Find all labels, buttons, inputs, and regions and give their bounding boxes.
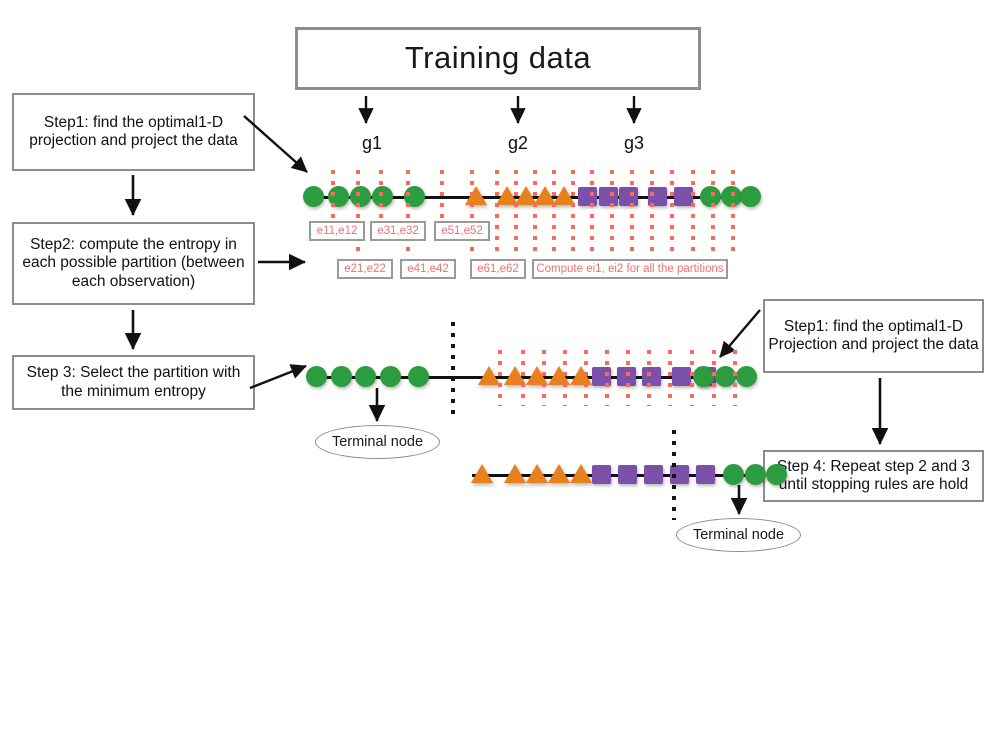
- marker-square: [644, 465, 663, 484]
- partition-guide: [590, 170, 594, 256]
- training-data-label: Training data: [405, 40, 591, 77]
- partition-guide: [514, 170, 518, 256]
- partition-guide: [552, 170, 556, 256]
- partition-guide: [521, 350, 525, 406]
- entropy-label-box: e31,e32: [370, 221, 426, 241]
- marker-square: [642, 367, 661, 386]
- axis-label-g1: g1: [362, 133, 382, 154]
- step4-box: Step 4: Repeat step 2 and 3 until stoppi…: [763, 450, 984, 502]
- step1b-box: Step1: find the optimal1-D Projection an…: [763, 299, 984, 373]
- marker-circle: [350, 186, 371, 207]
- partition-guide: [711, 170, 715, 256]
- marker-circle: [766, 464, 787, 485]
- terminal-node-label: Terminal node: [332, 434, 423, 450]
- partition-guide: [563, 350, 567, 406]
- entropy-label-box: e61,e62: [470, 259, 526, 279]
- partition-guide: [670, 170, 674, 256]
- partition-guide: [379, 170, 383, 218]
- entropy-label-text: e21,e22: [344, 263, 386, 275]
- marker-circle: [331, 366, 352, 387]
- marker-circle: [693, 366, 714, 387]
- step2-box: Step2: compute the entropy in each possi…: [12, 222, 255, 305]
- marker-circle: [355, 366, 376, 387]
- entropy-label-text: e11,e12: [317, 225, 358, 237]
- partition-guide: [571, 170, 575, 256]
- marker-triangle: [465, 186, 487, 205]
- split-line: [451, 322, 455, 414]
- entropy-summary-text: Compute ei1, ei2 for all the partitions: [536, 263, 723, 275]
- marker-square: [592, 465, 611, 484]
- marker-triangle: [570, 464, 592, 483]
- step3-label: Step 3: Select the partition with the mi…: [14, 364, 253, 401]
- marker-circle: [740, 186, 761, 207]
- partition-guide: [470, 170, 474, 256]
- split-line: [672, 430, 676, 520]
- marker-circle: [408, 366, 429, 387]
- partition-guide: [630, 170, 634, 256]
- arrow-step3-to-line2: [250, 366, 306, 388]
- partition-guide: [712, 350, 716, 406]
- step1-box: Step1: find the optimal1-D projection an…: [12, 93, 255, 171]
- marker-square: [599, 187, 618, 206]
- step2-label: Step2: compute the entropy in each possi…: [14, 236, 253, 291]
- partition-guide: [647, 350, 651, 406]
- step1b-label: Step1: find the optimal1-D Projection an…: [765, 318, 982, 355]
- marker-square: [672, 367, 691, 386]
- marker-triangle: [526, 464, 548, 483]
- partition-guide: [690, 350, 694, 406]
- entropy-label-box: e11,e12: [309, 221, 365, 241]
- partition-guide: [495, 170, 499, 256]
- partition-guide: [356, 170, 360, 256]
- partition-guide: [406, 170, 410, 256]
- step4-label: Step 4: Repeat step 2 and 3 until stoppi…: [765, 458, 982, 495]
- entropy-label-text: e41,e42: [407, 263, 449, 275]
- marker-triangle: [478, 366, 500, 385]
- data-line-3: [468, 460, 758, 490]
- entropy-label-text: e31,e32: [377, 225, 419, 237]
- marker-circle: [745, 464, 766, 485]
- entropy-label-box: e21,e22: [337, 259, 393, 279]
- partition-guide: [542, 350, 546, 406]
- terminal-node-oval: Terminal node: [676, 518, 801, 552]
- entropy-label-box: e41,e42: [400, 259, 456, 279]
- partition-guide: [498, 350, 502, 406]
- step3-box: Step 3: Select the partition with the mi…: [12, 355, 255, 410]
- entropy-label-box: e51,e52: [434, 221, 490, 241]
- marker-square: [578, 187, 597, 206]
- marker-triangle: [548, 464, 570, 483]
- marker-triangle: [504, 464, 526, 483]
- axis-label-g2: g2: [508, 133, 528, 154]
- partition-guide: [626, 350, 630, 406]
- partition-guide: [584, 350, 588, 406]
- marker-circle: [736, 366, 757, 387]
- partition-guide: [533, 170, 537, 256]
- partition-guide: [605, 350, 609, 406]
- marker-circle: [723, 464, 744, 485]
- data-line-1: [300, 182, 750, 212]
- partition-guide: [733, 350, 737, 406]
- arrow-step1b-to-line2: [720, 310, 760, 357]
- partition-guide: [668, 350, 672, 406]
- training-data-box: Training data: [295, 27, 701, 90]
- axis-label-g3: g3: [624, 133, 644, 154]
- partition-guide: [650, 170, 654, 256]
- partition-guide: [731, 170, 735, 256]
- partition-guide: [691, 170, 695, 256]
- entropy-label-text: e51,e52: [441, 225, 483, 237]
- marker-circle: [303, 186, 324, 207]
- partition-guide: [440, 170, 444, 218]
- step1-label: Step1: find the optimal1-D projection an…: [14, 114, 253, 151]
- marker-triangle: [471, 464, 493, 483]
- data-line-2: [303, 362, 751, 392]
- diagram-canvas: Training data g1 g2 g3 Step1: find the o…: [0, 0, 996, 747]
- entropy-summary-box: Compute ei1, ei2 for all the partitions: [532, 259, 728, 279]
- marker-square: [696, 465, 715, 484]
- terminal-node-oval: Terminal node: [315, 425, 440, 459]
- marker-square: [618, 465, 637, 484]
- marker-circle: [306, 366, 327, 387]
- partition-guide: [610, 170, 614, 256]
- entropy-label-text: e61,e62: [477, 263, 519, 275]
- partition-guide: [331, 170, 335, 218]
- marker-square: [619, 187, 638, 206]
- marker-circle: [380, 366, 401, 387]
- terminal-node-label: Terminal node: [693, 527, 784, 543]
- marker-triangle: [570, 366, 592, 385]
